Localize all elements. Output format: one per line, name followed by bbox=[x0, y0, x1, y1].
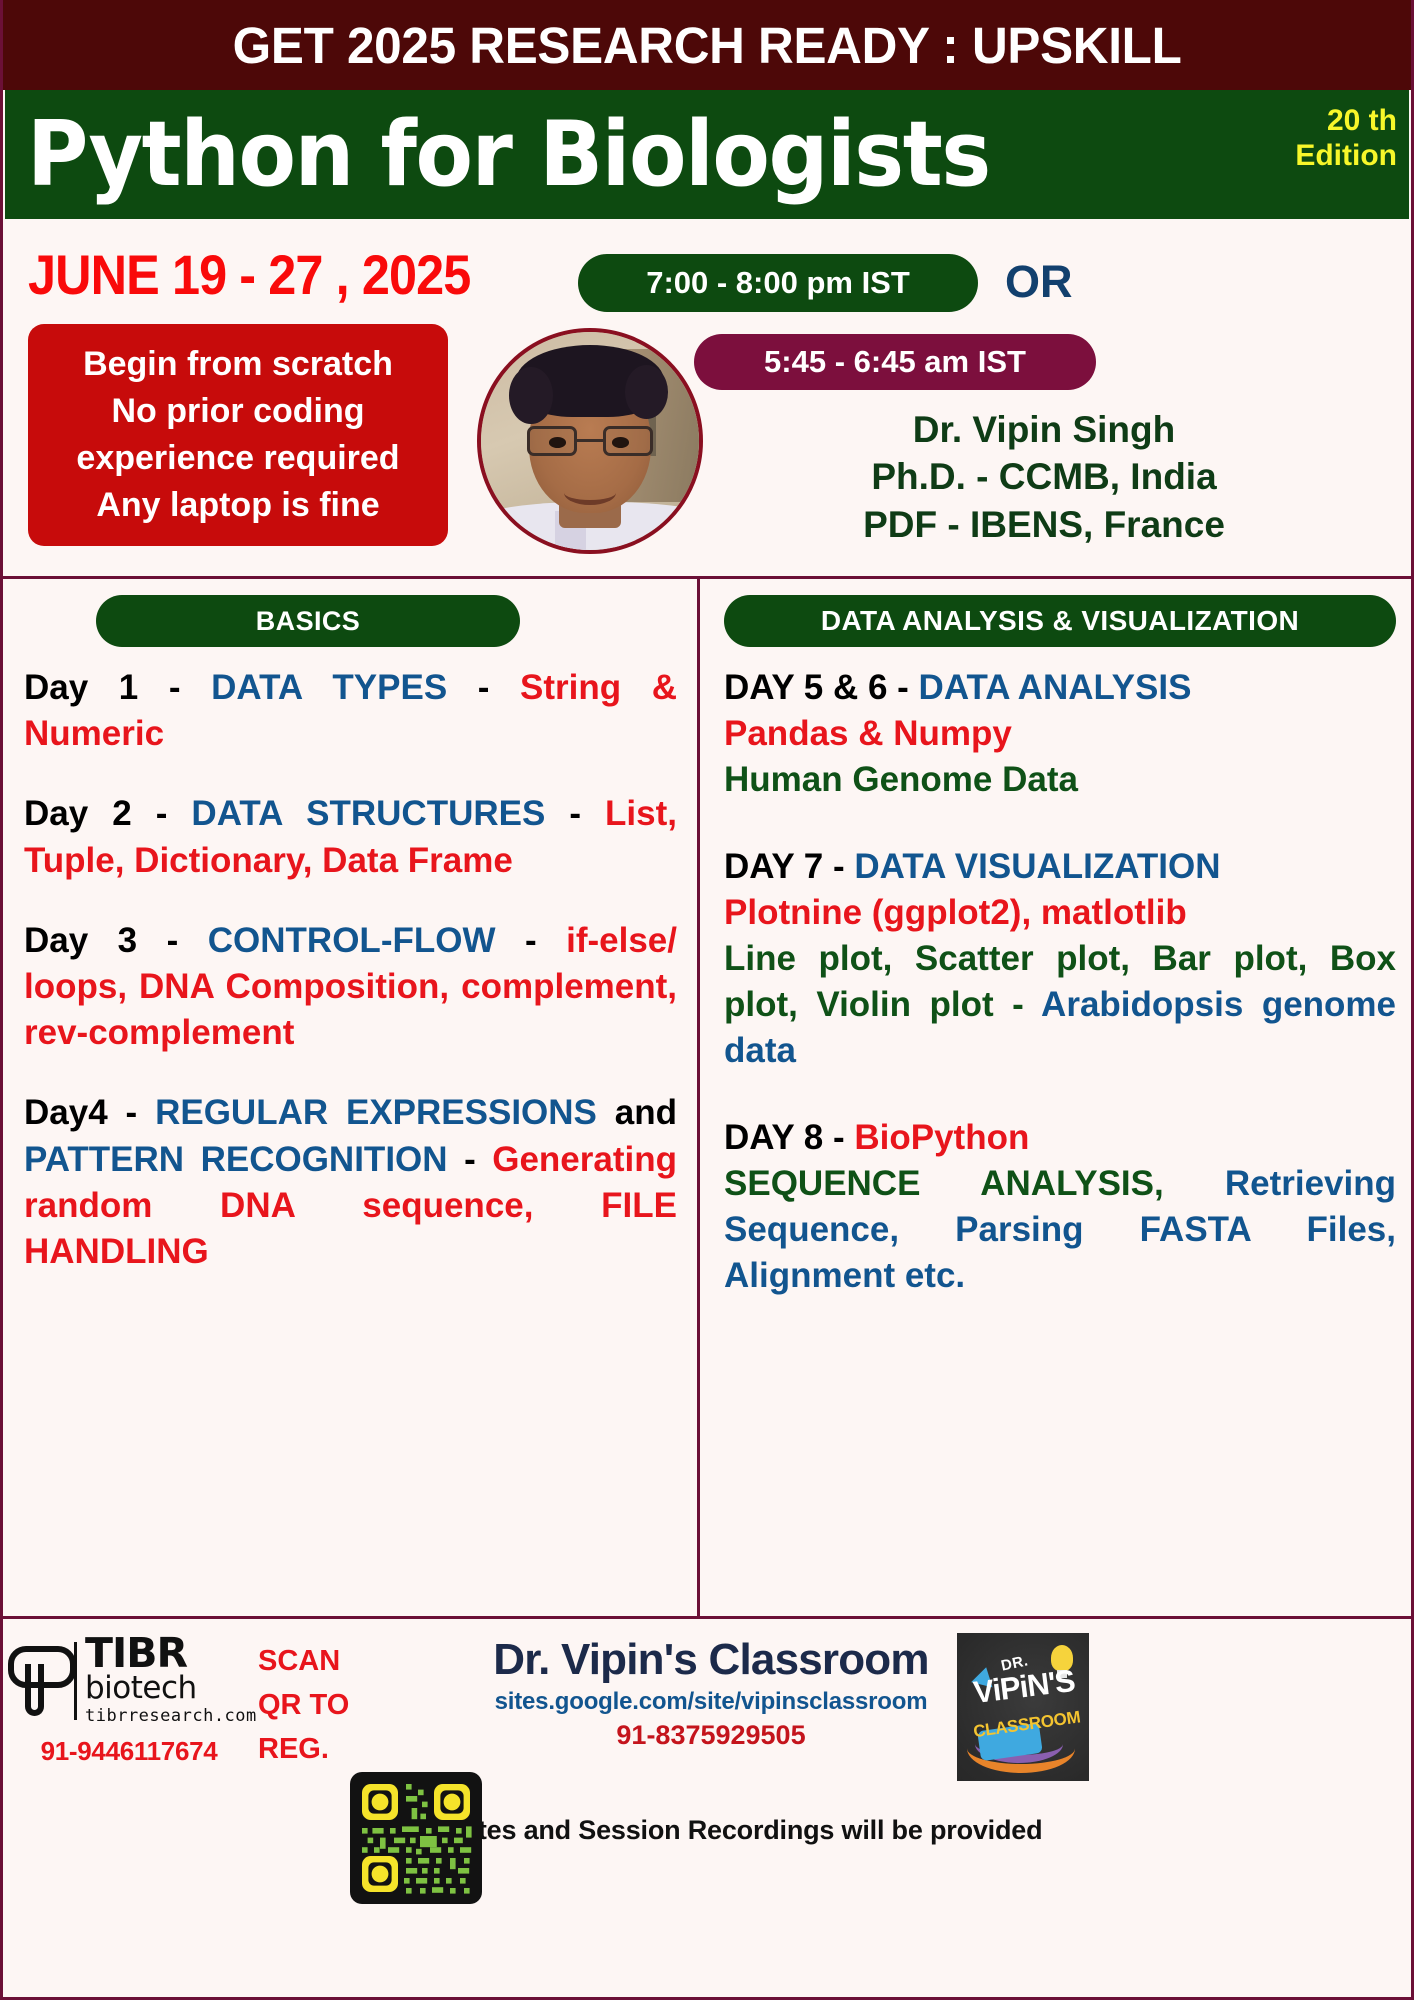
glasses-icon bbox=[527, 426, 653, 457]
time-slot-evening: 7:00 - 8:00 pm IST bbox=[578, 254, 978, 312]
prerequisites-text: Begin from scratchNo prior codingexperie… bbox=[76, 341, 399, 529]
classroom-url[interactable]: sites.google.com/site/vipinsclassroom bbox=[470, 1688, 952, 1716]
syllabus-entry-segment: - bbox=[525, 921, 566, 960]
syllabus-entry: Day 2 - DATA STRUCTURES - List, Tuple, D… bbox=[24, 791, 677, 883]
column-header-data-analysis: DATA ANALYSIS & VISUALIZATION bbox=[724, 595, 1396, 647]
column-header-basics: BASICS bbox=[96, 595, 520, 647]
syllabus-column-basics: BASICS Day 1 - DATA TYPES - String & Num… bbox=[0, 579, 700, 1616]
instructor-block: Dr. Vipin Singh Ph.D. - CCMB, India PDF … bbox=[694, 406, 1394, 548]
tibr-phone[interactable]: 91-9446117674 bbox=[6, 1736, 252, 1767]
syllabus-entry-segment: DATA STRUCTURES bbox=[191, 794, 569, 833]
classroom-block: Dr. Vipin's Classroom sites.google.com/s… bbox=[470, 1637, 952, 1751]
glasses-bridge bbox=[577, 439, 602, 442]
prerequisites-box: Begin from scratchNo prior codingexperie… bbox=[28, 324, 448, 546]
tibr-mark-icon bbox=[6, 1642, 68, 1720]
poster-root: GET 2025 RESEARCH READY : UPSKILL Python… bbox=[0, 0, 1414, 2000]
syllabus-entry-segment: - bbox=[169, 668, 211, 707]
syllabus-entry-segment: - bbox=[833, 1118, 854, 1157]
photo-eye-left bbox=[549, 437, 566, 448]
syllabus-entry-segment: DAY 5 & 6 bbox=[724, 668, 897, 707]
syllabus-entry-segment: - bbox=[478, 668, 520, 707]
syllabus-entry: DAY 8 - BioPythonSEQUENCE ANALYSIS, Retr… bbox=[724, 1115, 1396, 1300]
syllabus-entry-segment: - bbox=[156, 794, 192, 833]
tibr-name: TIBR bbox=[85, 1635, 257, 1673]
qr-code[interactable] bbox=[350, 1772, 482, 1904]
syllabus-entry-list-basics: Day 1 - DATA TYPES - String & NumericDay… bbox=[24, 665, 677, 1275]
syllabus-entry-segment: DATA ANALYSIS bbox=[919, 668, 1192, 707]
tibr-logo-block: TIBR biotech tibrresearch.com 91-9446117… bbox=[6, 1635, 252, 1767]
syllabus-column-data-analysis: DATA ANALYSIS & VISUALIZATION DAY 5 & 6 … bbox=[700, 579, 1414, 1616]
syllabus-entry-segment: and bbox=[615, 1093, 677, 1132]
syllabus-entry-list-data-analysis: DAY 5 & 6 - DATA ANALYSISPandas & NumpyH… bbox=[724, 665, 1396, 1299]
syllabus-entry-segment: Plotnine (ggplot2), matlotlib bbox=[724, 893, 1187, 932]
info-section: JUNE 19 - 27 , 2025 Begin from scratchNo… bbox=[0, 224, 1414, 579]
classroom-phone[interactable]: 91-8375929505 bbox=[470, 1720, 952, 1751]
syllabus-entry-segment: DAY 7 bbox=[724, 847, 833, 886]
syllabus-entry: Day 1 - DATA TYPES - String & Numeric bbox=[24, 665, 677, 757]
instructor-credential-phd: Ph.D. - CCMB, India bbox=[694, 453, 1394, 500]
edition-word: Edition bbox=[1295, 139, 1397, 174]
syllabus-entry-segment: CONTROL-FLOW bbox=[208, 921, 525, 960]
edition-number: 20 th bbox=[1295, 104, 1397, 139]
tibr-website[interactable]: tibrresearch.com bbox=[85, 1706, 257, 1726]
instructor-name: Dr. Vipin Singh bbox=[694, 406, 1394, 453]
syllabus-entry-segment: DATA VISUALIZATION bbox=[854, 847, 1220, 886]
syllabus-entry: Day 3 - CONTROL-FLOW - if-else/ loops, D… bbox=[24, 918, 677, 1057]
instructor-credential-pdf: PDF - IBENS, France bbox=[694, 501, 1394, 548]
syllabus-entry-segment: REGULAR EXPRESSIONS bbox=[155, 1093, 615, 1132]
or-label: OR bbox=[1005, 256, 1073, 308]
syllabus-entry-segment: BioPython bbox=[854, 1118, 1029, 1157]
banner-headline: GET 2025 RESEARCH READY : UPSKILL bbox=[233, 16, 1182, 75]
photo-eye-right bbox=[612, 437, 629, 448]
syllabus-entry-segment: Day 1 bbox=[24, 668, 169, 707]
syllabus-entry-segment: - bbox=[126, 1093, 156, 1132]
syllabus-entry-segment: - bbox=[833, 847, 854, 886]
photo-hair-left bbox=[509, 367, 553, 424]
tibr-wordmark: TIBR biotech tibrresearch.com bbox=[85, 1635, 257, 1726]
syllabus-entry-segment: - bbox=[897, 668, 918, 707]
syllabus-entry: DAY 7 - DATA VISUALIZATIONPlotnine (ggpl… bbox=[724, 844, 1396, 1075]
syllabus-entry-segment: Day 3 bbox=[24, 921, 167, 960]
photo-smile bbox=[564, 480, 616, 505]
vipins-classroom-logo: DR. ViPiN'S CLASSROOM bbox=[957, 1633, 1089, 1781]
tibr-logo-row: TIBR biotech tibrresearch.com bbox=[6, 1635, 252, 1726]
scan-qr-label: SCANQR TOREG. bbox=[258, 1639, 349, 1771]
syllabus-entry-segment: PATTERN RECOGNITION bbox=[24, 1140, 464, 1179]
syllabus-entry: Day4 - REGULAR EXPRESSIONS and PATTERN R… bbox=[24, 1090, 677, 1275]
tibr-stem-shape bbox=[25, 1664, 44, 1716]
instructor-photo bbox=[477, 328, 703, 554]
syllabus-entry-segment: Human Genome Data bbox=[724, 760, 1078, 799]
syllabus-entry-segment: Day 2 bbox=[24, 794, 156, 833]
syllabus-entry-segment: SEQUENCE ANALYSIS, bbox=[724, 1164, 1225, 1203]
divider bbox=[74, 1642, 77, 1720]
syllabus-entry: DAY 5 & 6 - DATA ANALYSISPandas & NumpyH… bbox=[724, 665, 1396, 804]
syllabus-entry-segment: - bbox=[569, 794, 605, 833]
syllabus-entry-segment: Day4 bbox=[24, 1093, 126, 1132]
syllabus-entry-segment: - bbox=[464, 1140, 492, 1179]
time-slot-morning: 5:45 - 6:45 am IST bbox=[694, 334, 1096, 390]
course-dates: JUNE 19 - 27 , 2025 bbox=[28, 242, 470, 307]
classroom-title: Dr. Vipin's Classroom bbox=[470, 1637, 952, 1683]
syllabus-section: BASICS Day 1 - DATA TYPES - String & Num… bbox=[0, 579, 1414, 1619]
top-banner: GET 2025 RESEARCH READY : UPSKILL bbox=[0, 0, 1414, 90]
syllabus-entry-segment: DATA TYPES bbox=[211, 668, 478, 707]
syllabus-entry-segment: Pandas & Numpy bbox=[724, 714, 1012, 753]
edition-badge: 20 th Edition bbox=[1295, 104, 1397, 174]
title-band: Python for Biologists 20 th Edition bbox=[0, 90, 1414, 224]
certificate-note: Certificates and Session Recordings will… bbox=[0, 1815, 1414, 1846]
page-title: Python for Biologists bbox=[27, 110, 990, 200]
syllabus-entry-segment: - bbox=[167, 921, 208, 960]
tibr-subtitle: biotech bbox=[85, 1673, 257, 1705]
syllabus-entry-segment: DAY 8 bbox=[724, 1118, 833, 1157]
footer-section: TIBR biotech tibrresearch.com 91-9446117… bbox=[0, 1619, 1414, 1867]
